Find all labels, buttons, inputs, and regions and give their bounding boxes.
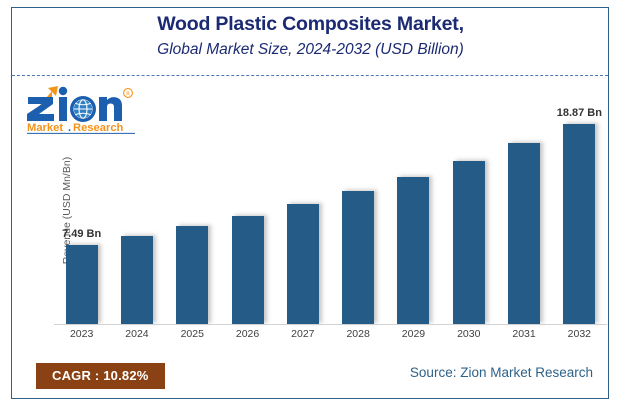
- bar-slot: [109, 96, 164, 324]
- x-tick-2027: 2027: [275, 328, 330, 340]
- bar-slot: 18.87 Bn: [552, 96, 607, 324]
- bar-slot: [275, 96, 330, 324]
- bar-slot: [220, 96, 275, 324]
- bar-2027: [287, 204, 319, 324]
- bar-2026: [232, 216, 264, 324]
- x-axis-baseline: [54, 324, 607, 325]
- bar-2030: [453, 161, 485, 324]
- page-title: Wood Plastic Composites Market,: [0, 12, 621, 36]
- bar-2032: [563, 124, 595, 324]
- source-label: Source: Zion Market Research: [410, 365, 593, 380]
- x-tick-2024: 2024: [109, 328, 164, 340]
- x-tick-2023: 2023: [54, 328, 109, 340]
- page-subtitle: Global Market Size, 2024-2032 (USD Billi…: [0, 39, 621, 61]
- title-block: Wood Plastic Composites Market, Global M…: [0, 12, 621, 61]
- bar-2025: [176, 226, 208, 324]
- bar-2024: [121, 236, 153, 324]
- bar-slot: [496, 96, 551, 324]
- dashed-divider: [12, 75, 608, 76]
- x-tick-2025: 2025: [165, 328, 220, 340]
- bar-slot: [386, 96, 441, 324]
- bar-slot: 7.49 Bn: [54, 96, 109, 324]
- bar-2029: [397, 177, 429, 324]
- bar-slot: [165, 96, 220, 324]
- bar-2023: [66, 245, 98, 324]
- bar-2028: [342, 191, 374, 324]
- bar-value-label-2032: 18.87 Bn: [557, 107, 602, 119]
- bar-2031: [508, 143, 540, 324]
- x-tick-2032: 2032: [552, 328, 607, 340]
- cagr-badge: CAGR : 10.82%: [36, 363, 165, 389]
- x-tick-2029: 2029: [386, 328, 441, 340]
- x-tick-2030: 2030: [441, 328, 496, 340]
- x-axis-tick-labels: 2023202420252026202720282029203020312032: [54, 328, 607, 346]
- bar-slot: [331, 96, 386, 324]
- x-tick-2026: 2026: [220, 328, 275, 340]
- x-tick-2031: 2031: [496, 328, 551, 340]
- bar-value-label-2023: 7.49 Bn: [62, 228, 101, 240]
- plot-area: Revenue (USD Mn/Bn) 7.49 Bn18.87 Bn: [54, 96, 607, 325]
- bar-slot: [441, 96, 496, 324]
- chart-page: Wood Plastic Composites Market, Global M…: [0, 0, 621, 410]
- x-tick-2028: 2028: [331, 328, 386, 340]
